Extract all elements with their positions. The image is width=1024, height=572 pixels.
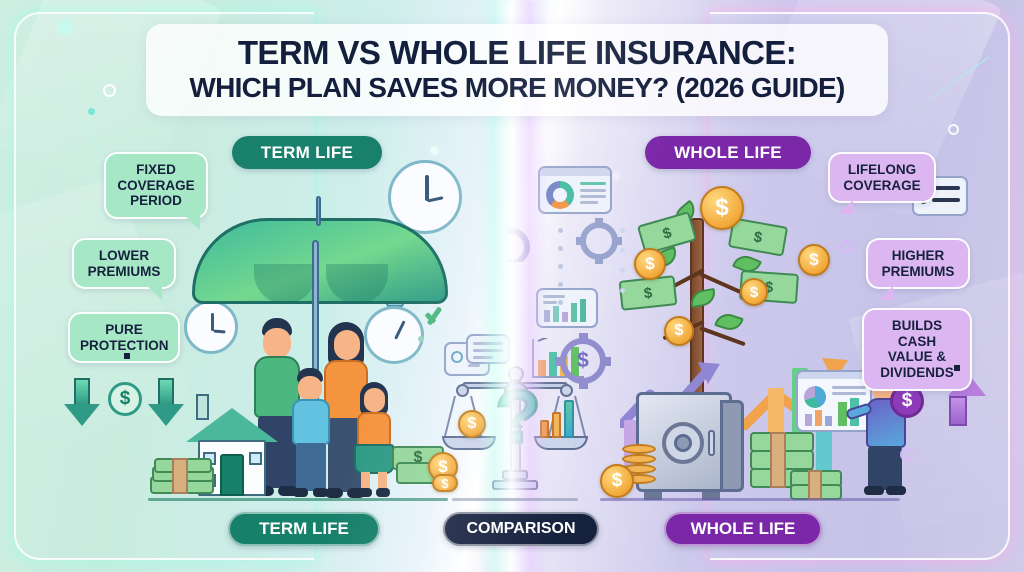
cash-bundle-left	[150, 458, 216, 496]
dot-decor-icon	[418, 336, 424, 342]
sparkle-icon	[88, 108, 95, 115]
ring-decor-right-2-icon	[840, 240, 853, 253]
dashboard-screen	[796, 370, 872, 432]
title-line-2: WHICH PLAN SAVES MORE MONEY? (2026 GUIDE…	[189, 73, 844, 104]
term-life-header-pill[interactable]: TERM LIFE	[232, 136, 382, 169]
sparkle-3-icon	[612, 172, 620, 180]
tree-coin-icon-4: $	[740, 278, 768, 306]
term-life-footer-pill[interactable]: TERM LIFE	[228, 512, 380, 546]
dotted-trail-right	[620, 228, 626, 338]
sparkle-2-icon	[430, 146, 439, 155]
infographic-canvas: $ $ $ $	[0, 0, 1024, 572]
coin-stack-right: $	[600, 442, 658, 498]
gear-dollar-icon: $	[560, 338, 606, 384]
title-line-1: TERM VS WHOLE LIFE INSURANCE:	[238, 36, 796, 71]
ring-decor-right-icon	[948, 124, 959, 135]
umbrella-icon	[192, 196, 448, 316]
tree-coin-icon-1: $	[700, 186, 744, 230]
ground-line-center	[452, 498, 578, 501]
whole-life-header-pill[interactable]: WHOLE LIFE	[645, 136, 811, 169]
lower-cost-indicator: $	[68, 376, 184, 430]
ground-line-right	[600, 498, 900, 501]
bubble-lower-premiums: LOWER PREMIUMS	[72, 238, 176, 289]
bubble-fixed-coverage-period: FIXED COVERAGE PERIOD	[104, 152, 208, 219]
money-bill-icon-3: $	[619, 275, 678, 311]
title-card: TERM VS WHOLE LIFE INSURANCE: WHICH PLAN…	[146, 24, 888, 116]
gear-icon	[580, 222, 618, 260]
family-son-figure	[292, 368, 330, 498]
bubble-pure-protection: PURE PROTECTION	[68, 312, 180, 363]
bubble-builds-cash-value: BUILDS CASH VALUE & DIVIDENDS	[862, 308, 972, 391]
family-daughter-figure	[356, 382, 392, 498]
dollar-coin-icon: $	[108, 382, 142, 416]
ring-decor-icon	[103, 84, 116, 97]
cash-stacks-right	[750, 432, 842, 498]
tree-coin-icon-3: $	[798, 244, 830, 276]
whole-life-footer-pill[interactable]: WHOLE LIFE	[664, 512, 822, 546]
bubble-higher-premiums: HIGHER PREMIUMS	[866, 238, 970, 289]
comparison-footer-pill[interactable]: COMPARISON	[443, 512, 599, 546]
ground-line-left	[148, 498, 448, 501]
glow-dot-icon	[56, 18, 74, 36]
tree-coin-icon-5: $	[664, 316, 694, 346]
tree-coin-icon-2: $	[634, 248, 666, 280]
ring-decor-bottom-icon	[900, 448, 913, 461]
checkmark-icon	[428, 298, 440, 332]
donut-chart-widget	[538, 166, 612, 214]
dotted-trail-left	[558, 228, 564, 338]
bubble-lifelong-coverage: LIFELONG COVERAGE	[828, 152, 936, 203]
